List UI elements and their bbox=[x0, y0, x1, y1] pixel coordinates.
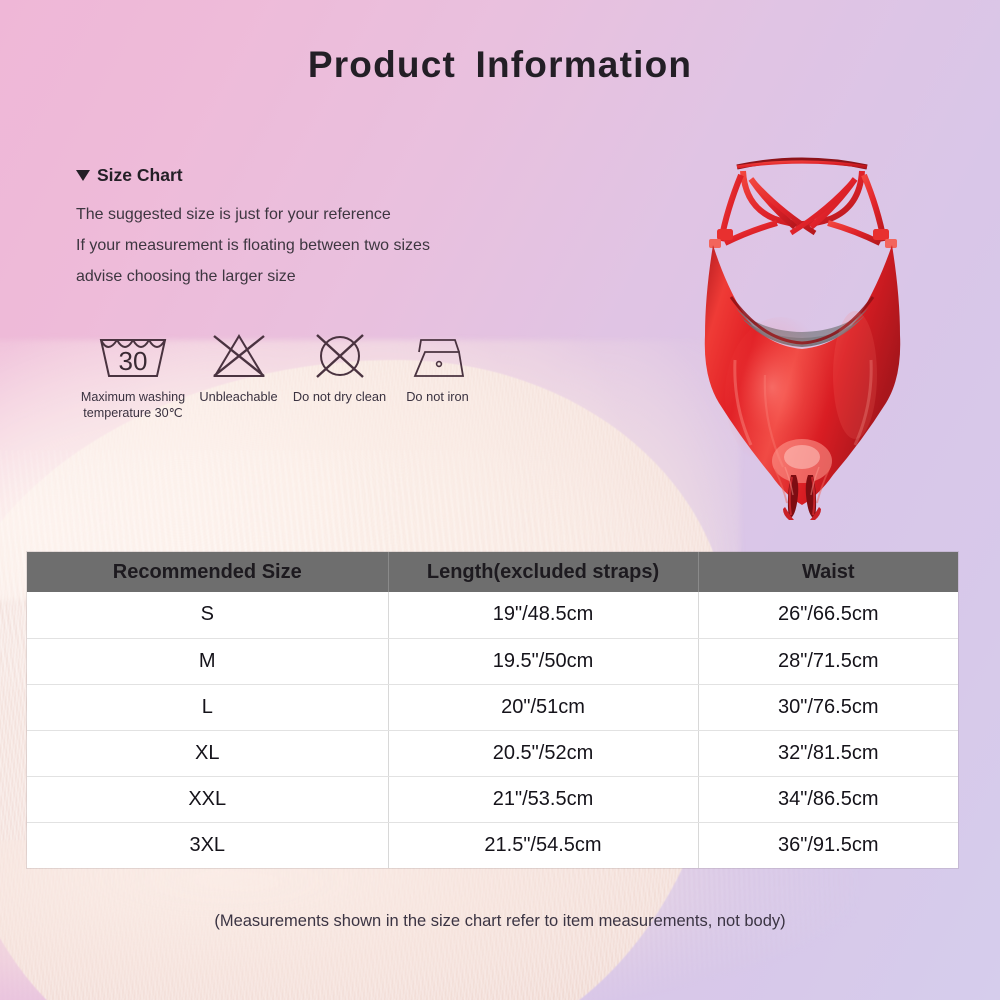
column-header-recommended-size: Recommended Size bbox=[27, 552, 388, 592]
svg-text:30: 30 bbox=[119, 346, 148, 376]
table-row: M 19.5"/50cm 28"/71.5cm bbox=[27, 638, 958, 684]
red-patent-bodysuit-photo bbox=[665, 145, 940, 520]
cell-size: L bbox=[27, 684, 388, 730]
cell-size: 3XL bbox=[27, 822, 388, 868]
product-information-page: Product Information Size Chart The sugge… bbox=[0, 0, 1000, 1000]
table-row: S 19"/48.5cm 26"/66.5cm bbox=[27, 592, 958, 638]
column-header-length: Length(excluded straps) bbox=[388, 552, 698, 592]
wash-tub-30-icon: 30 bbox=[95, 328, 171, 384]
cell-length: 21.5"/54.5cm bbox=[388, 822, 698, 868]
size-chart-heading-label: Size Chart bbox=[97, 165, 183, 186]
cell-length: 19.5"/50cm bbox=[388, 638, 698, 684]
care-symbol-item: Do not dry clean bbox=[289, 328, 390, 421]
care-symbol-item: 30 Maximum washing temperature 30℃ bbox=[78, 328, 188, 421]
cell-waist: 30"/76.5cm bbox=[698, 684, 958, 730]
table-row: XL 20.5"/52cm 32"/81.5cm bbox=[27, 730, 958, 776]
cell-length: 20.5"/52cm bbox=[388, 730, 698, 776]
size-chart-note: If your measurement is floating between … bbox=[76, 230, 546, 261]
care-symbol-label: Do not dry clean bbox=[293, 389, 386, 405]
care-symbol-item: Do not iron bbox=[390, 328, 485, 421]
table-row: 3XL 21.5"/54.5cm 36"/91.5cm bbox=[27, 822, 958, 868]
cell-length: 20"/51cm bbox=[388, 684, 698, 730]
care-symbol-label: Unbleachable bbox=[199, 389, 277, 405]
cell-waist: 34"/86.5cm bbox=[698, 776, 958, 822]
care-symbol-item: Unbleachable bbox=[188, 328, 289, 421]
cell-length: 19"/48.5cm bbox=[388, 592, 698, 638]
size-chart-note: The suggested size is just for your refe… bbox=[76, 199, 546, 230]
cell-waist: 32"/81.5cm bbox=[698, 730, 958, 776]
care-symbol-label: Maximum washing temperature 30℃ bbox=[81, 389, 185, 421]
page-title: Product Information bbox=[0, 44, 1000, 86]
table-row: XXL 21"/53.5cm 34"/86.5cm bbox=[27, 776, 958, 822]
cell-length: 21"/53.5cm bbox=[388, 776, 698, 822]
no-iron-icon bbox=[405, 328, 471, 384]
size-chart-heading: Size Chart bbox=[76, 165, 546, 186]
table-row: L 20"/51cm 30"/76.5cm bbox=[27, 684, 958, 730]
cell-size: M bbox=[27, 638, 388, 684]
care-symbol-label: Do not iron bbox=[406, 389, 469, 405]
cell-size: S bbox=[27, 592, 388, 638]
size-chart-table: Recommended Size Length(excluded straps)… bbox=[27, 552, 958, 868]
size-chart-note: advise choosing the larger size bbox=[76, 261, 546, 292]
cell-waist: 36"/91.5cm bbox=[698, 822, 958, 868]
triangle-down-icon bbox=[76, 170, 90, 181]
cell-size: XL bbox=[27, 730, 388, 776]
column-header-waist: Waist bbox=[698, 552, 958, 592]
cell-waist: 26"/66.5cm bbox=[698, 592, 958, 638]
table-header-row: Recommended Size Length(excluded straps)… bbox=[27, 552, 958, 592]
cell-waist: 28"/71.5cm bbox=[698, 638, 958, 684]
cell-size: XXL bbox=[27, 776, 388, 822]
measurements-footnote: (Measurements shown in the size chart re… bbox=[0, 912, 1000, 931]
no-bleach-icon bbox=[206, 328, 272, 384]
size-chart-section: Size Chart The suggested size is just fo… bbox=[76, 165, 546, 292]
care-symbols-row: 30 Maximum washing temperature 30℃ Unble… bbox=[78, 328, 485, 421]
no-dry-clean-icon bbox=[310, 328, 370, 384]
